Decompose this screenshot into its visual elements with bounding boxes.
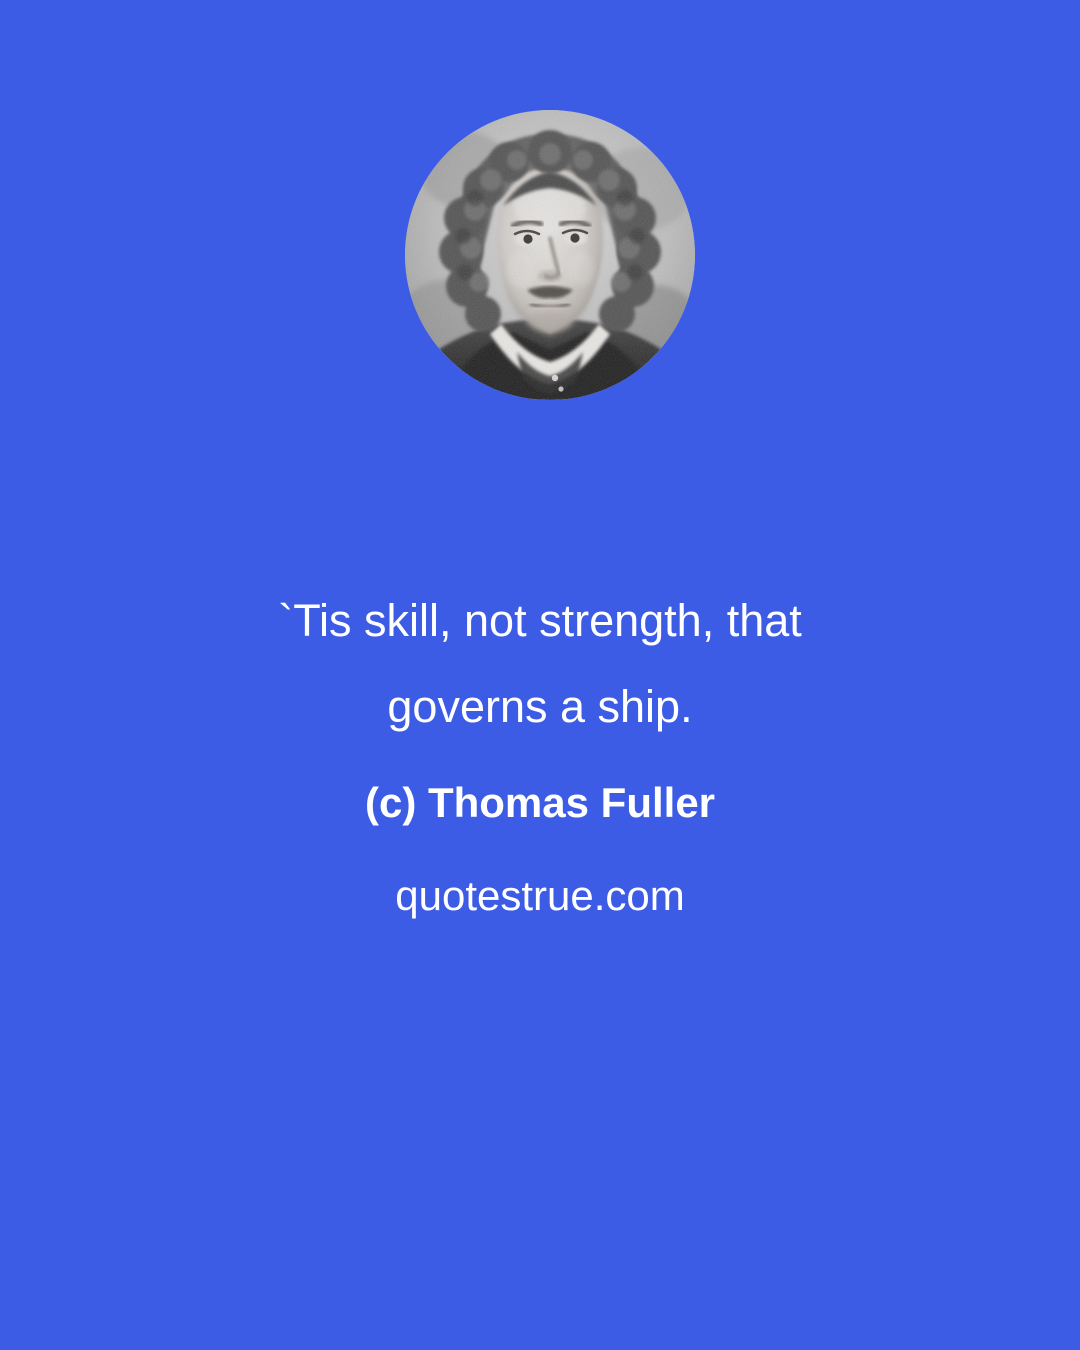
avatar [405, 110, 695, 400]
author-portrait [405, 110, 695, 400]
quote-card: `Tis skill, not strength, that governs a… [0, 0, 1080, 1350]
author-attribution: (c) Thomas Fuller [0, 782, 1080, 824]
source-website: quotestrue.com [0, 875, 1080, 917]
quote-line-2: governs a ship. [0, 684, 1080, 729]
portrait-avatar-icon [405, 110, 695, 400]
quote-line-1: `Tis skill, not strength, that [0, 598, 1080, 643]
